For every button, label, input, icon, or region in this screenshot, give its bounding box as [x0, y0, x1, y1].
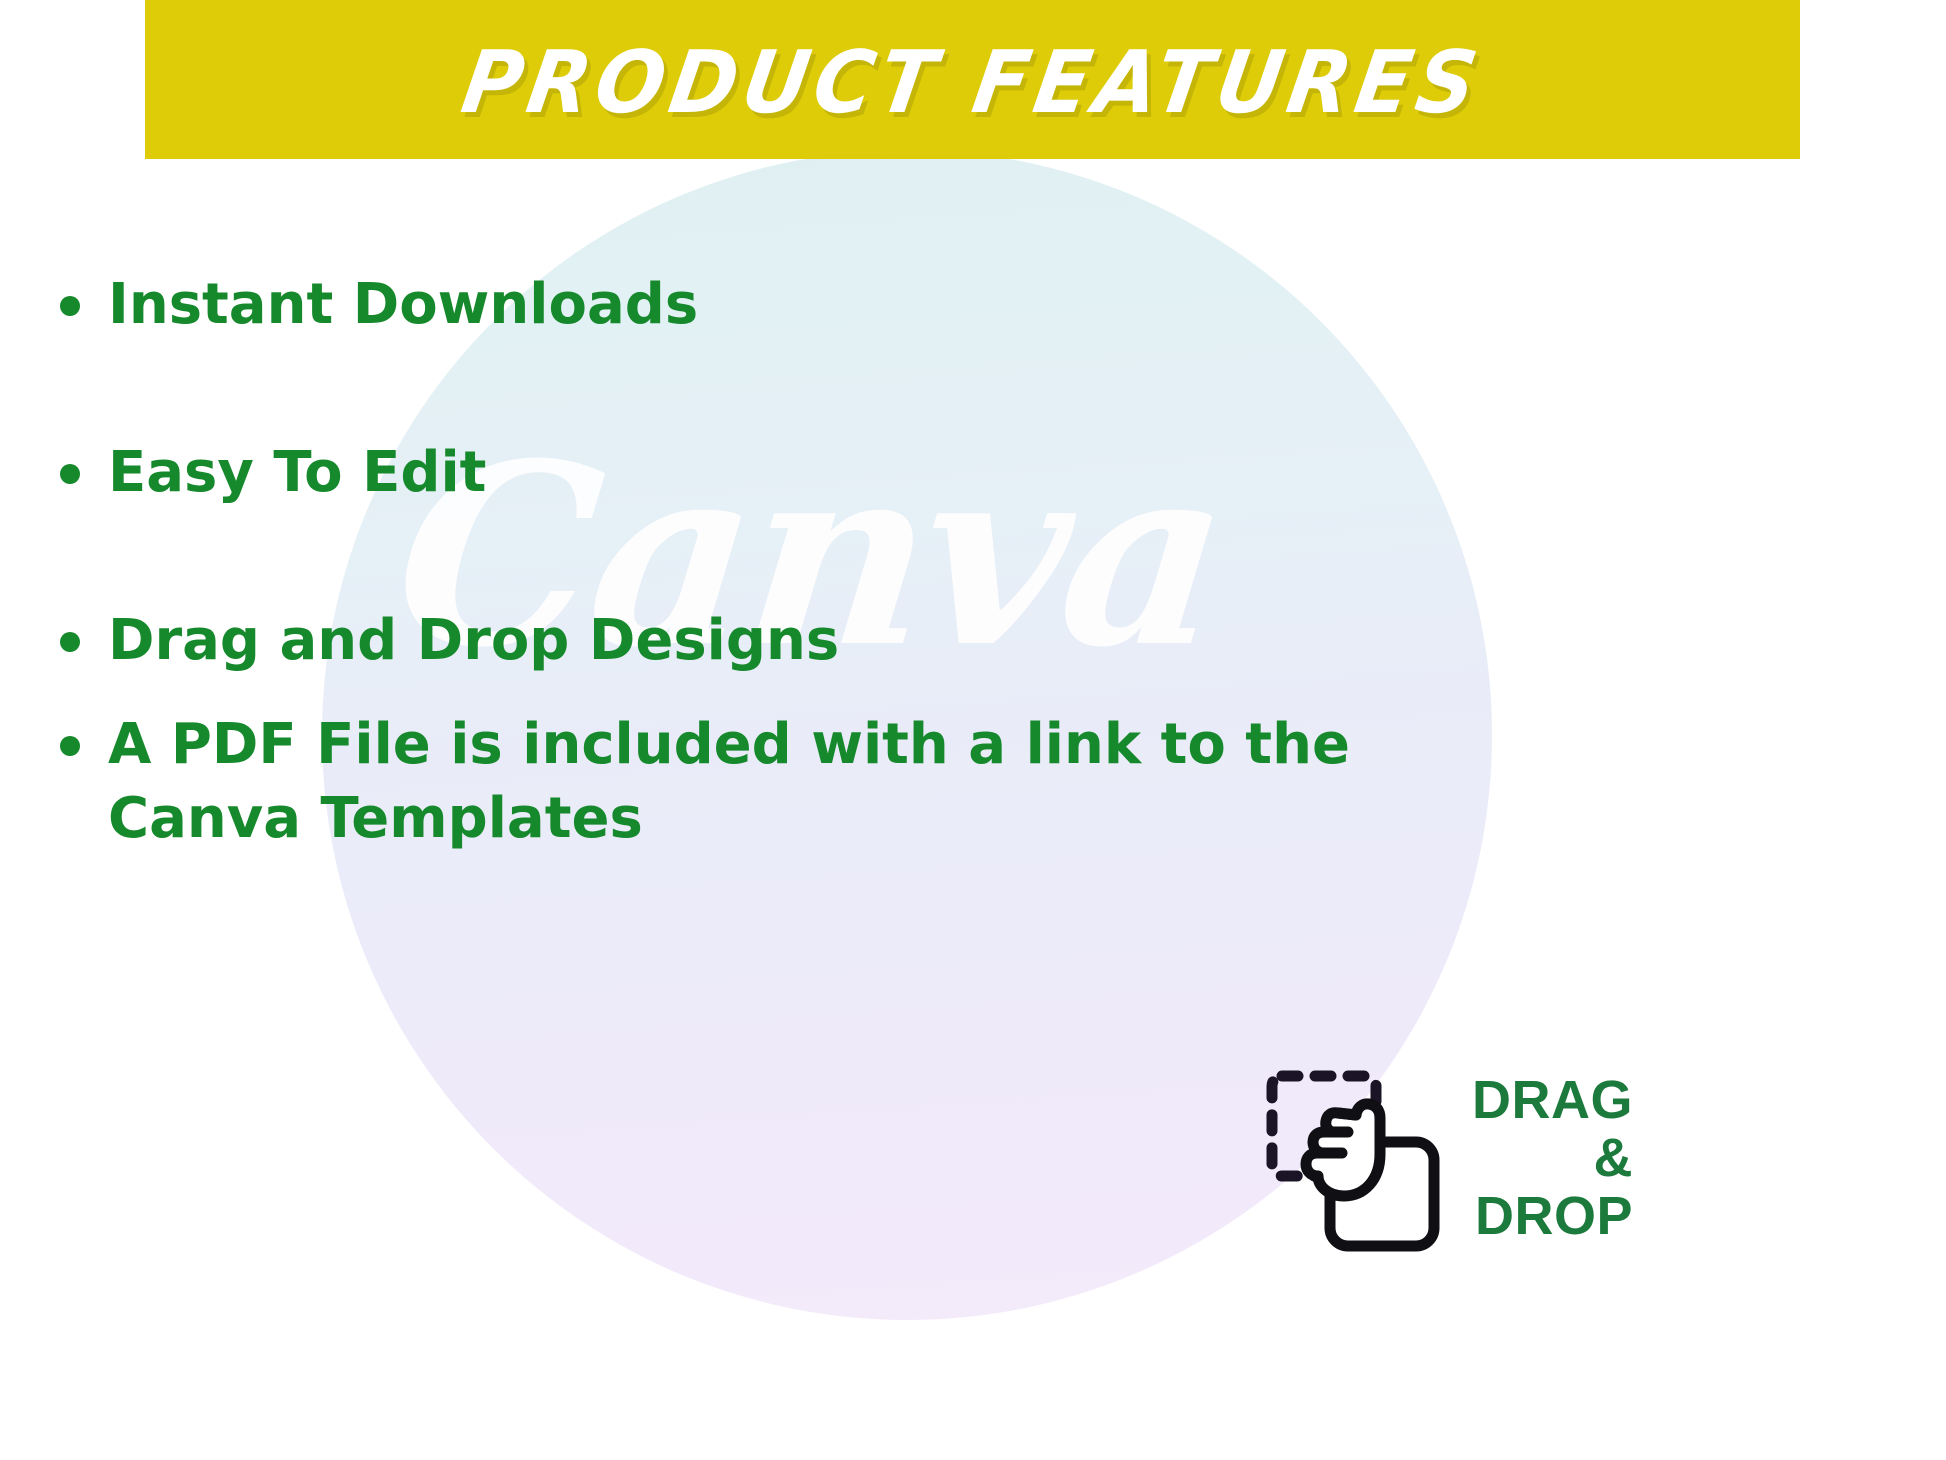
list-item: A PDF File is included with a link to th… [60, 708, 1540, 856]
bullet-dot-icon [60, 632, 80, 652]
page-title: PRODUCT FEATURES [457, 40, 1488, 126]
ampersand-label: & [1594, 1129, 1634, 1187]
feature-label: Drag and Drop Designs [108, 604, 1540, 678]
header-banner: PRODUCT FEATURES [145, 0, 1800, 159]
drag-drop-label-group: DRAG & DROP [1472, 1071, 1633, 1246]
feature-label: Easy To Edit [108, 436, 1540, 510]
bullet-dot-icon [60, 464, 80, 484]
drag-and-drop-badge: DRAG & DROP [1258, 1058, 1633, 1258]
bullet-dot-icon [60, 736, 80, 756]
list-item: Instant Downloads [60, 268, 1540, 342]
feature-label: A PDF File is included with a link to th… [108, 708, 1540, 856]
list-item: Easy To Edit [60, 436, 1540, 510]
drag-drop-icon [1258, 1058, 1458, 1258]
feature-list: Instant Downloads Easy To Edit Drag and … [60, 268, 1540, 856]
feature-label: Instant Downloads [108, 268, 1540, 342]
slide-canvas: Canva PRODUCT FEATURES Instant Downloads… [0, 0, 1946, 1460]
drop-label: DROP [1475, 1187, 1633, 1245]
drag-label: DRAG [1472, 1071, 1633, 1129]
bullet-dot-icon [60, 296, 80, 316]
list-item: Drag and Drop Designs [60, 604, 1540, 678]
